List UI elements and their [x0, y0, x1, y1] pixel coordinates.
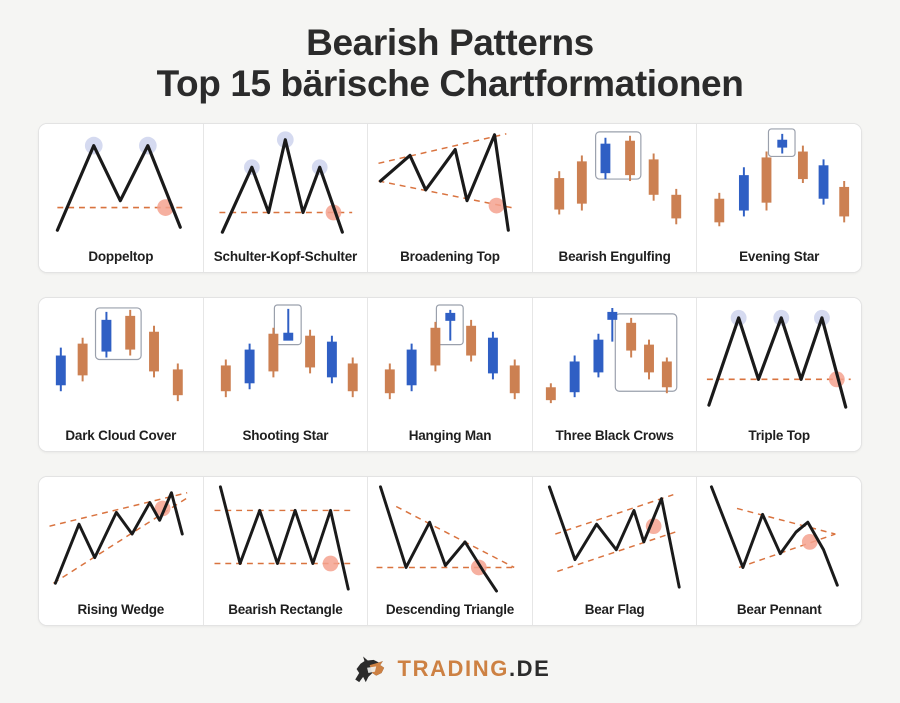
candle — [778, 134, 788, 154]
pattern-card-broadening-top[interactable]: Broadening Top — [368, 124, 533, 272]
pattern-card-dark-cloud-cover[interactable]: Dark Cloud Cover — [39, 298, 204, 451]
pattern-card-bearish-engulfing[interactable]: Bearish Engulfing — [533, 124, 698, 272]
figure-bearish-engulfing — [533, 124, 697, 242]
figure-three-black-crows — [533, 298, 697, 421]
candle — [347, 357, 357, 397]
candle — [268, 328, 278, 378]
pattern-card-double-top[interactable]: Doppeltop — [39, 124, 204, 272]
candle — [819, 159, 829, 204]
candle — [78, 338, 88, 382]
pattern-card-bear-pennant[interactable]: Bear Pennant — [697, 477, 861, 625]
candle — [125, 310, 135, 356]
candle — [662, 357, 672, 393]
pattern-card-head-and-shoulders[interactable]: Schulter-Kopf-Schulter — [204, 124, 369, 272]
candle — [283, 309, 293, 341]
pattern-label: Hanging Man — [368, 421, 532, 451]
figure-dark-cloud-cover — [39, 298, 203, 421]
brand-secondary: .DE — [509, 656, 550, 682]
breakout-marker-icon — [322, 556, 338, 572]
candle — [488, 332, 498, 380]
candle — [56, 347, 66, 391]
pattern-label: Evening Star — [697, 242, 861, 272]
figure-bearish-rectangle — [204, 477, 368, 595]
pattern-card-descending-triangle[interactable]: Descending Triangle — [368, 477, 533, 625]
pattern-card-triple-top[interactable]: Triple Top — [697, 298, 861, 451]
pattern-label: Bear Flag — [533, 595, 697, 625]
candle — [644, 340, 654, 380]
pattern-card-bearish-rectangle[interactable]: Bearish Rectangle — [204, 477, 369, 625]
price-line — [222, 140, 342, 232]
figure-shooting-star — [204, 298, 368, 421]
candle — [554, 171, 564, 214]
breakout-marker-icon — [489, 198, 505, 214]
pattern-label: Bearish Rectangle — [204, 595, 368, 625]
pattern-label: Doppeltop — [39, 242, 203, 272]
pattern-card-shooting-star[interactable]: Shooting Star — [204, 298, 369, 451]
candle — [173, 363, 183, 401]
figure-broadening-top — [368, 124, 532, 242]
figure-descending-triangle — [368, 477, 532, 595]
candle — [798, 146, 808, 183]
pattern-label: Schulter-Kopf-Schulter — [204, 242, 368, 272]
pattern-row: Rising Wedge Bearish Rectangle — [38, 476, 862, 626]
pattern-label: Dark Cloud Cover — [39, 421, 203, 451]
price-line — [549, 487, 679, 587]
figure-double-top — [39, 124, 203, 242]
price-line — [220, 487, 348, 589]
candle — [577, 155, 587, 210]
pattern-row: Dark Cloud Cover — [38, 297, 862, 452]
candle — [431, 322, 441, 372]
candle — [600, 138, 610, 179]
pattern-card-rising-wedge[interactable]: Rising Wedge — [39, 477, 204, 625]
brand-wordmark: TRADING.DE — [398, 656, 551, 682]
pattern-card-hanging-man[interactable]: Hanging Man — [368, 298, 533, 451]
pattern-row: Doppeltop Schulter-Kopf-Schulter — [38, 123, 862, 273]
price-line — [712, 487, 838, 585]
pattern-label: Three Black Crows — [533, 421, 697, 451]
candle — [671, 189, 681, 224]
pattern-label: Bear Pennant — [697, 595, 861, 625]
candle — [569, 355, 579, 397]
candle — [593, 334, 603, 378]
title-line-1: Bearish Patterns — [157, 22, 744, 63]
candle — [649, 153, 659, 200]
candle — [446, 310, 456, 341]
pattern-label: Bearish Engulfing — [533, 242, 697, 272]
pattern-label: Rising Wedge — [39, 595, 203, 625]
pattern-label: Triple Top — [697, 421, 861, 451]
candle — [385, 363, 395, 399]
upper-trendline — [396, 506, 514, 567]
candle — [625, 136, 635, 181]
candle — [546, 383, 556, 403]
pattern-label: Shooting Star — [204, 421, 368, 451]
bull-icon — [350, 653, 392, 685]
candle — [510, 359, 520, 399]
price-line — [57, 146, 180, 231]
upper-trendline — [737, 508, 835, 534]
candle — [466, 320, 476, 362]
pattern-card-evening-star[interactable]: Evening Star — [697, 124, 861, 272]
candle — [244, 344, 254, 390]
title-line-2: Top 15 bärische Chartformationen — [157, 63, 744, 104]
candle — [327, 336, 337, 384]
candle — [762, 151, 772, 210]
footer-brand: TRADING.DE — [0, 653, 900, 685]
infographic-page: Bearish Patterns Top 15 bärische Chartfo… — [0, 0, 900, 703]
candle — [715, 193, 725, 226]
pattern-grid: Doppeltop Schulter-Kopf-Schulter — [38, 123, 862, 650]
figure-head-and-shoulders — [204, 124, 368, 242]
candle — [626, 318, 636, 358]
candle — [149, 326, 159, 378]
pattern-card-bear-flag[interactable]: Bear Flag — [533, 477, 698, 625]
figure-triple-top — [697, 298, 861, 421]
candle — [739, 167, 749, 216]
candle — [407, 344, 417, 392]
figure-bear-pennant — [697, 477, 861, 595]
pattern-label: Descending Triangle — [368, 595, 532, 625]
price-line — [381, 135, 509, 230]
figure-bear-flag — [533, 477, 697, 595]
figure-rising-wedge — [39, 477, 203, 595]
lower-trendline — [557, 532, 675, 571]
figure-evening-star — [697, 124, 861, 242]
candle — [840, 181, 850, 222]
candle — [305, 330, 315, 374]
brand-primary: TRADING — [398, 656, 509, 682]
pattern-label: Broadening Top — [368, 242, 532, 272]
candle — [220, 359, 230, 397]
figure-hanging-man — [368, 298, 532, 421]
candle — [101, 312, 111, 358]
pattern-card-three-black-crows[interactable]: Three Black Crows — [533, 298, 698, 451]
price-line — [709, 318, 846, 407]
price-line — [381, 487, 497, 591]
page-title: Bearish Patterns Top 15 bärische Chartfo… — [157, 22, 744, 105]
